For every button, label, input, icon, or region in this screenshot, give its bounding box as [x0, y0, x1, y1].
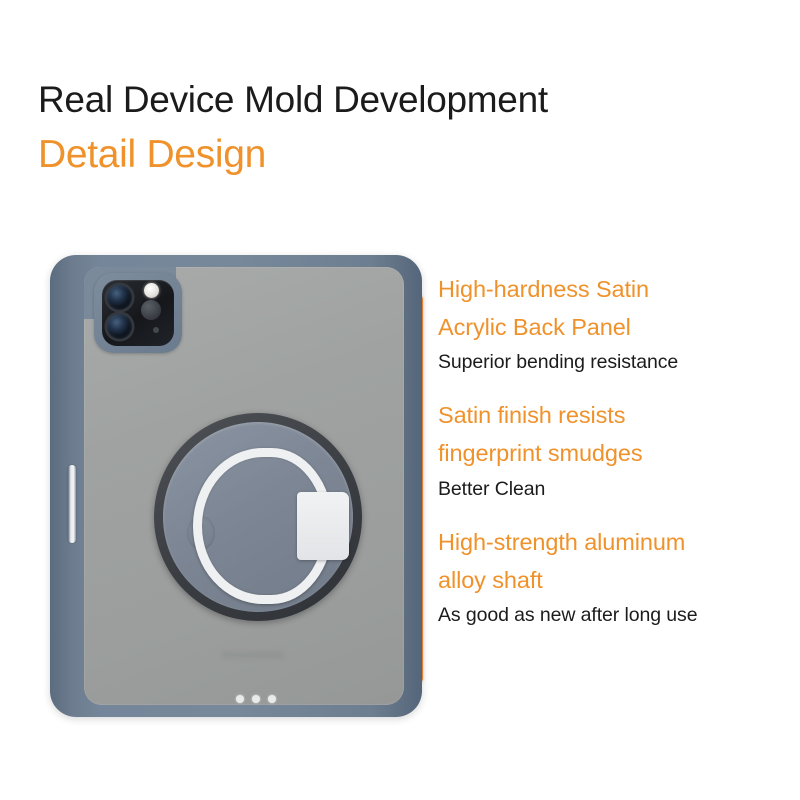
d-shaped-kickstand: [193, 448, 343, 604]
connector-dot: [268, 695, 276, 703]
feature-headline-line2: fingerprint smudges: [438, 434, 788, 472]
feature-headline-line1: Satin finish resists: [438, 396, 788, 434]
lidar-sensor-icon: [141, 300, 161, 320]
product-feature-slide: Real Device Mold Development Detail Desi…: [0, 0, 800, 800]
connector-dot: [236, 695, 244, 703]
feature-item-alloy-shaft: High-strength aluminum alloy shaft As go…: [438, 523, 788, 630]
feature-headline-line2: alloy shaft: [438, 561, 788, 599]
kickstand-tab: [297, 492, 349, 560]
camera-lens-top-icon: [107, 285, 132, 310]
microphone-dot-icon: [153, 327, 159, 333]
feature-item-back-panel: High-hardness Satin Acrylic Back Panel S…: [438, 270, 788, 377]
feature-list: High-hardness Satin Acrylic Back Panel S…: [438, 270, 788, 630]
feature-headline-line1: High-strength aluminum: [438, 523, 788, 561]
page-subtitle: Detail Design: [38, 131, 738, 180]
camera-flash-icon: [144, 283, 159, 298]
heading-block: Real Device Mold Development Detail Desi…: [38, 78, 738, 180]
connector-dot: [252, 695, 260, 703]
feature-headline-line2: Acrylic Back Panel: [438, 308, 788, 346]
feature-subtext: As good as new after long use: [438, 601, 788, 630]
feature-item-satin-finish: Satin finish resists fingerprint smudges…: [438, 396, 788, 503]
rotating-ring-stand: [154, 413, 362, 621]
side-button-cutout: [68, 465, 76, 543]
smart-connector-dots: [236, 695, 276, 703]
product-image: [28, 245, 438, 735]
ring-disc: [163, 422, 353, 612]
tablet-case-bumper-frame: [50, 255, 422, 717]
feature-headline-line1: High-hardness Satin: [438, 270, 788, 308]
feature-subtext: Superior bending resistance: [438, 348, 788, 377]
brand-emboss: [222, 651, 284, 659]
feature-subtext: Better Clean: [438, 475, 788, 504]
camera-lens-bottom-icon: [107, 314, 132, 339]
page-title: Real Device Mold Development: [38, 78, 738, 122]
